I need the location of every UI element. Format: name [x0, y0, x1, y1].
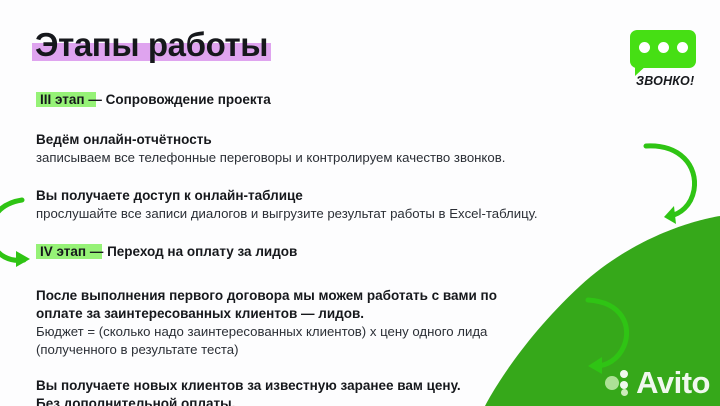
stage-sep-4: —	[86, 244, 107, 259]
block-4-2-heading-line-2: Без дополнительной оплаты.	[36, 395, 636, 406]
block-3-2-line-1: прослушайте все записи диалогов и выгруз…	[36, 205, 636, 223]
block-3-1: Ведём онлайн-отчётность записываем все т…	[36, 131, 636, 167]
zvonko-logo-text: ЗВОНКО!	[636, 74, 694, 88]
stage-title-4: Переход на оплату за лидов	[107, 244, 297, 259]
block-4-2-heading-line-1: Вы получаете новых клиентов за известную…	[36, 377, 636, 395]
block-3-2: Вы получаете доступ к онлайн-таблице про…	[36, 187, 636, 223]
page-title-text: Этапы работы	[35, 26, 268, 63]
zvonko-logo[interactable]: ЗВОНКО!	[624, 30, 702, 88]
slide-content: III этап — Сопровождение проекта Ведём о…	[36, 91, 636, 406]
avito-wordmark: Avito	[636, 367, 710, 398]
block-4-1: После выполнения первого договора мы мож…	[36, 287, 636, 359]
stage-title-3: Сопровождение проекта	[106, 92, 271, 107]
stage-heading-3: III этап — Сопровождение проекта	[36, 91, 271, 108]
three-dots-icon	[630, 42, 696, 53]
stage-sep-3: —	[85, 92, 106, 107]
block-3-1-heading: Ведём онлайн-отчётность	[36, 131, 636, 149]
block-3-2-heading: Вы получаете доступ к онлайн-таблице	[36, 187, 636, 205]
block-4-1-heading-line-1: После выполнения первого договора мы мож…	[36, 287, 636, 305]
block-4-1-heading-line-2: оплате за заинтересованных клиентов — ли…	[36, 305, 636, 323]
stage-heading-4: IV этап — Переход на оплату за лидов	[36, 243, 297, 260]
page-title-wrap: Этапы работы	[32, 26, 271, 64]
block-4-1-line-2: (полученного в результате теста)	[36, 341, 636, 359]
stage-label-4: IV этап	[40, 244, 86, 259]
speech-bubble-icon	[630, 30, 696, 68]
curved-arrow-down-right-upper-icon	[640, 140, 702, 226]
block-3-1-line-1: записываем все телефонные переговоры и к…	[36, 149, 636, 167]
block-4-2: Вы получаете новых клиентов за известную…	[36, 377, 636, 406]
stage-label-3: III этап	[40, 92, 85, 107]
page-title: Этапы работы	[32, 26, 271, 64]
slide-canvas: Avito Этапы работы ЗВОНКО! III этап — Со…	[0, 0, 720, 406]
block-4-1-line-1: Бюджет = (сколько надо заинтересованных …	[36, 323, 636, 341]
